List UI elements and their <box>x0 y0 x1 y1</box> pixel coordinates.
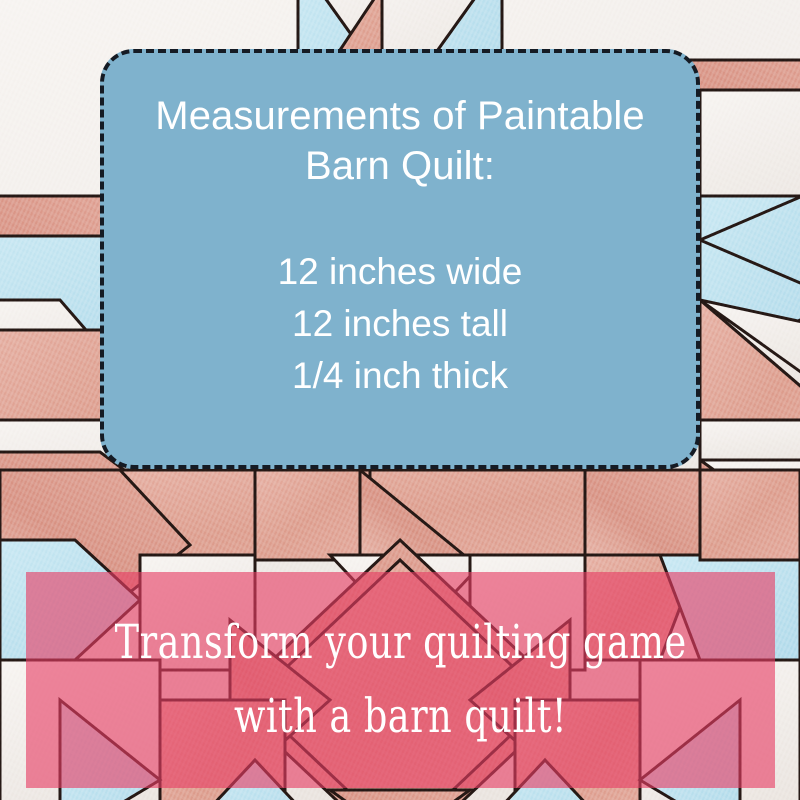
info-card-heading: Measurements of Paintable Barn Quilt: <box>120 91 680 191</box>
measurement-spec-list: 12 inches wide 12 inches tall 1/4 inch t… <box>278 247 523 401</box>
info-card-heading-line-2: Barn Quilt: <box>120 141 680 191</box>
spec-width: 12 inches wide <box>278 247 523 297</box>
spec-height: 12 inches tall <box>292 299 508 349</box>
measurements-info-card: Measurements of Paintable Barn Quilt: 12… <box>100 49 700 469</box>
cta-line-1: Transform your quilting game <box>114 608 686 678</box>
call-to-action-banner: Transform your quilting game with a barn… <box>26 572 775 788</box>
graphic-canvas: Measurements of Paintable Barn Quilt: 12… <box>0 0 800 800</box>
spec-thickness: 1/4 inch thick <box>292 351 508 401</box>
info-card-heading-line-1: Measurements of Paintable <box>120 91 680 141</box>
cta-line-2: with a barn quilt! <box>234 682 567 752</box>
